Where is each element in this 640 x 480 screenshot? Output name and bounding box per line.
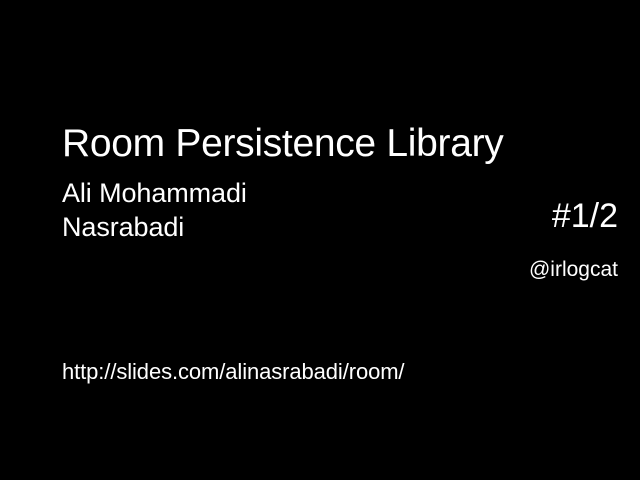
- page-title: Room Persistence Library: [62, 122, 503, 166]
- slide-counter: #1/2: [529, 196, 618, 236]
- social-handle: @irlogcat: [529, 258, 618, 282]
- author-name-line-1: Ali Mohammadi: [62, 176, 247, 210]
- author-block: Ali Mohammadi Nasrabadi: [62, 176, 247, 244]
- slide-meta-column: #1/2 @irlogcat: [529, 196, 618, 282]
- presentation-slide: Room Persistence Library Ali Mohammadi N…: [0, 0, 640, 480]
- author-name-line-2: Nasrabadi: [62, 210, 247, 244]
- slides-url[interactable]: http://slides.com/alinasrabadi/room/: [62, 358, 404, 386]
